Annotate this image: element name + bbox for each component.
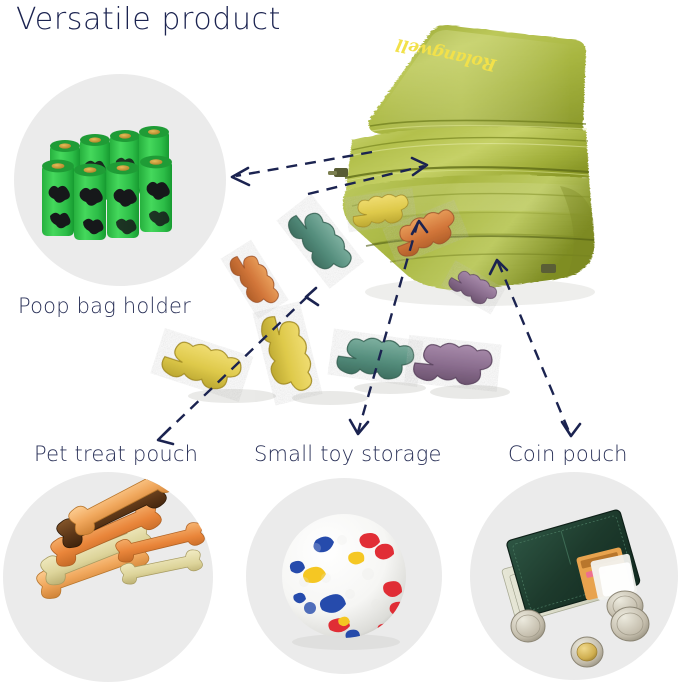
arrowhead-down-small-toy bbox=[350, 420, 368, 434]
arrowhead-up-coin-pouch bbox=[490, 260, 507, 274]
arrowhead-up-small-toy bbox=[412, 221, 427, 234]
brand-logo: Rolangwell bbox=[394, 34, 499, 75]
label-poop-bag-holder: Poop bag holder bbox=[18, 294, 191, 318]
spotted-ball-illustration bbox=[246, 478, 442, 674]
arrowhead-up-pet-treat bbox=[306, 288, 318, 305]
page-title: Versatile product bbox=[16, 2, 281, 37]
poop-bag-rolls-illustration bbox=[14, 74, 226, 286]
label-pet-treat-pouch: Pet treat pouch bbox=[34, 442, 198, 466]
brand-logo-text: Rolangwell bbox=[394, 34, 499, 75]
olive-zipper-pouch: Rolangwell bbox=[328, 25, 595, 306]
label-coin-pouch: Coin pouch bbox=[508, 442, 628, 466]
arrow-to-poop-bag-line bbox=[236, 152, 372, 176]
arrowhead-into-pouch bbox=[412, 158, 427, 175]
wallet-and-coins-illustration bbox=[470, 472, 678, 680]
feature-circle-small-toy-storage bbox=[246, 478, 442, 674]
arrowhead-poop-bag bbox=[232, 168, 249, 185]
arrow-to-coin-pouch-line bbox=[498, 262, 570, 434]
label-small-toy-storage: Small toy storage bbox=[254, 442, 442, 466]
dog-bone-treats-illustration bbox=[3, 472, 213, 682]
arrow-to-small-toy-line bbox=[358, 222, 418, 432]
feature-circle-pet-treat-pouch bbox=[3, 472, 213, 682]
feature-circle-coin-pouch bbox=[470, 472, 678, 680]
arrowhead-down-coin-pouch bbox=[562, 422, 580, 436]
arrow-into-pouch-line bbox=[308, 166, 424, 194]
feature-circle-poop-bag-holder bbox=[14, 74, 226, 286]
